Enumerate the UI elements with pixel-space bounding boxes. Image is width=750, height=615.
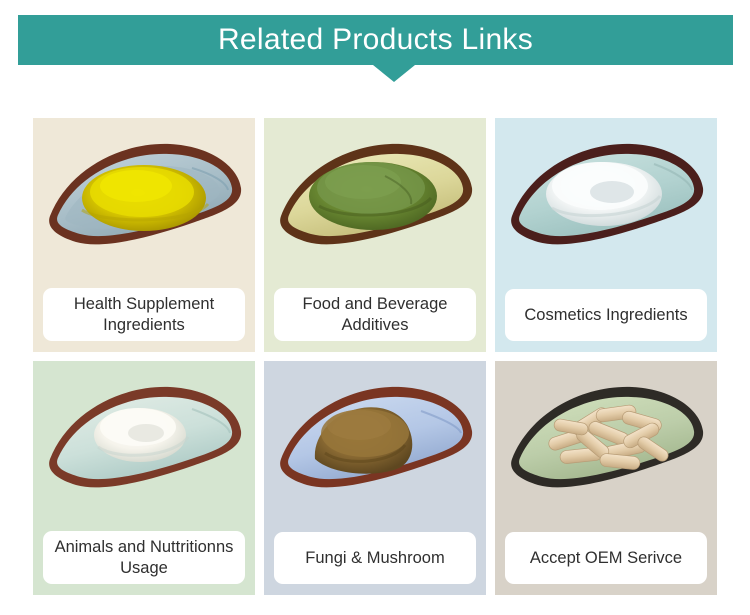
product-card-food-and-beverage-additives[interactable]: Food and Beverage Additives	[264, 118, 486, 352]
page-title: Related Products Links	[218, 25, 533, 55]
leaf-bowl-icon	[273, 128, 478, 278]
card-label-text: Animals and Nuttritionns Usage	[51, 537, 237, 578]
leaf-bowl-image-2	[264, 118, 486, 288]
product-card-health-supplement-ingredients[interactable]: Health Supplement Ingredients	[33, 118, 255, 352]
card-label-text: Food and Beverage Additives	[282, 294, 468, 335]
card-label-text: Accept OEM Serivce	[530, 548, 682, 568]
product-card-cosmetics-ingredients[interactable]: Cosmetics Ingredients	[495, 118, 717, 352]
card-label-text: Health Supplement Ingredients	[51, 294, 237, 335]
leaf-bowl-image-4	[33, 361, 255, 531]
leaf-bowl-image-5	[264, 361, 486, 531]
product-card-animals-and-nuttritionns-usage[interactable]: Animals and Nuttritionns Usage	[33, 361, 255, 595]
card-label-pill[interactable]: Cosmetics Ingredients	[505, 289, 707, 341]
header-banner: Related Products Links	[18, 15, 733, 65]
related-products-links-page: Related Products Links	[0, 0, 750, 615]
card-label-pill[interactable]: Health Supplement Ingredients	[43, 288, 245, 341]
leaf-bowl-image-3	[495, 118, 717, 288]
product-card-accept-oem-serivce[interactable]: Accept OEM Serivce	[495, 361, 717, 595]
card-label-text: Cosmetics Ingredients	[524, 305, 687, 325]
leaf-bowl-icon	[42, 371, 247, 521]
leaf-bowl-icon	[504, 128, 709, 278]
product-card-grid: Health Supplement Ingredients	[33, 118, 717, 595]
card-label-pill[interactable]: Animals and Nuttritionns Usage	[43, 531, 245, 584]
leaf-bowl-image-6	[495, 361, 717, 531]
leaf-bowl-icon	[273, 371, 478, 521]
product-card-fungi-and-mushroom[interactable]: Fungi & Mushroom	[264, 361, 486, 595]
leaf-bowl-capsules-icon	[504, 371, 709, 521]
banner-notch-triangle-icon	[373, 65, 415, 82]
card-label-pill[interactable]: Food and Beverage Additives	[274, 288, 476, 341]
card-label-text: Fungi & Mushroom	[305, 548, 444, 568]
header-banner-bar: Related Products Links	[18, 15, 733, 65]
card-label-pill[interactable]: Accept OEM Serivce	[505, 532, 707, 584]
leaf-bowl-image-1	[33, 118, 255, 288]
card-label-pill[interactable]: Fungi & Mushroom	[274, 532, 476, 584]
leaf-bowl-icon	[42, 128, 247, 278]
